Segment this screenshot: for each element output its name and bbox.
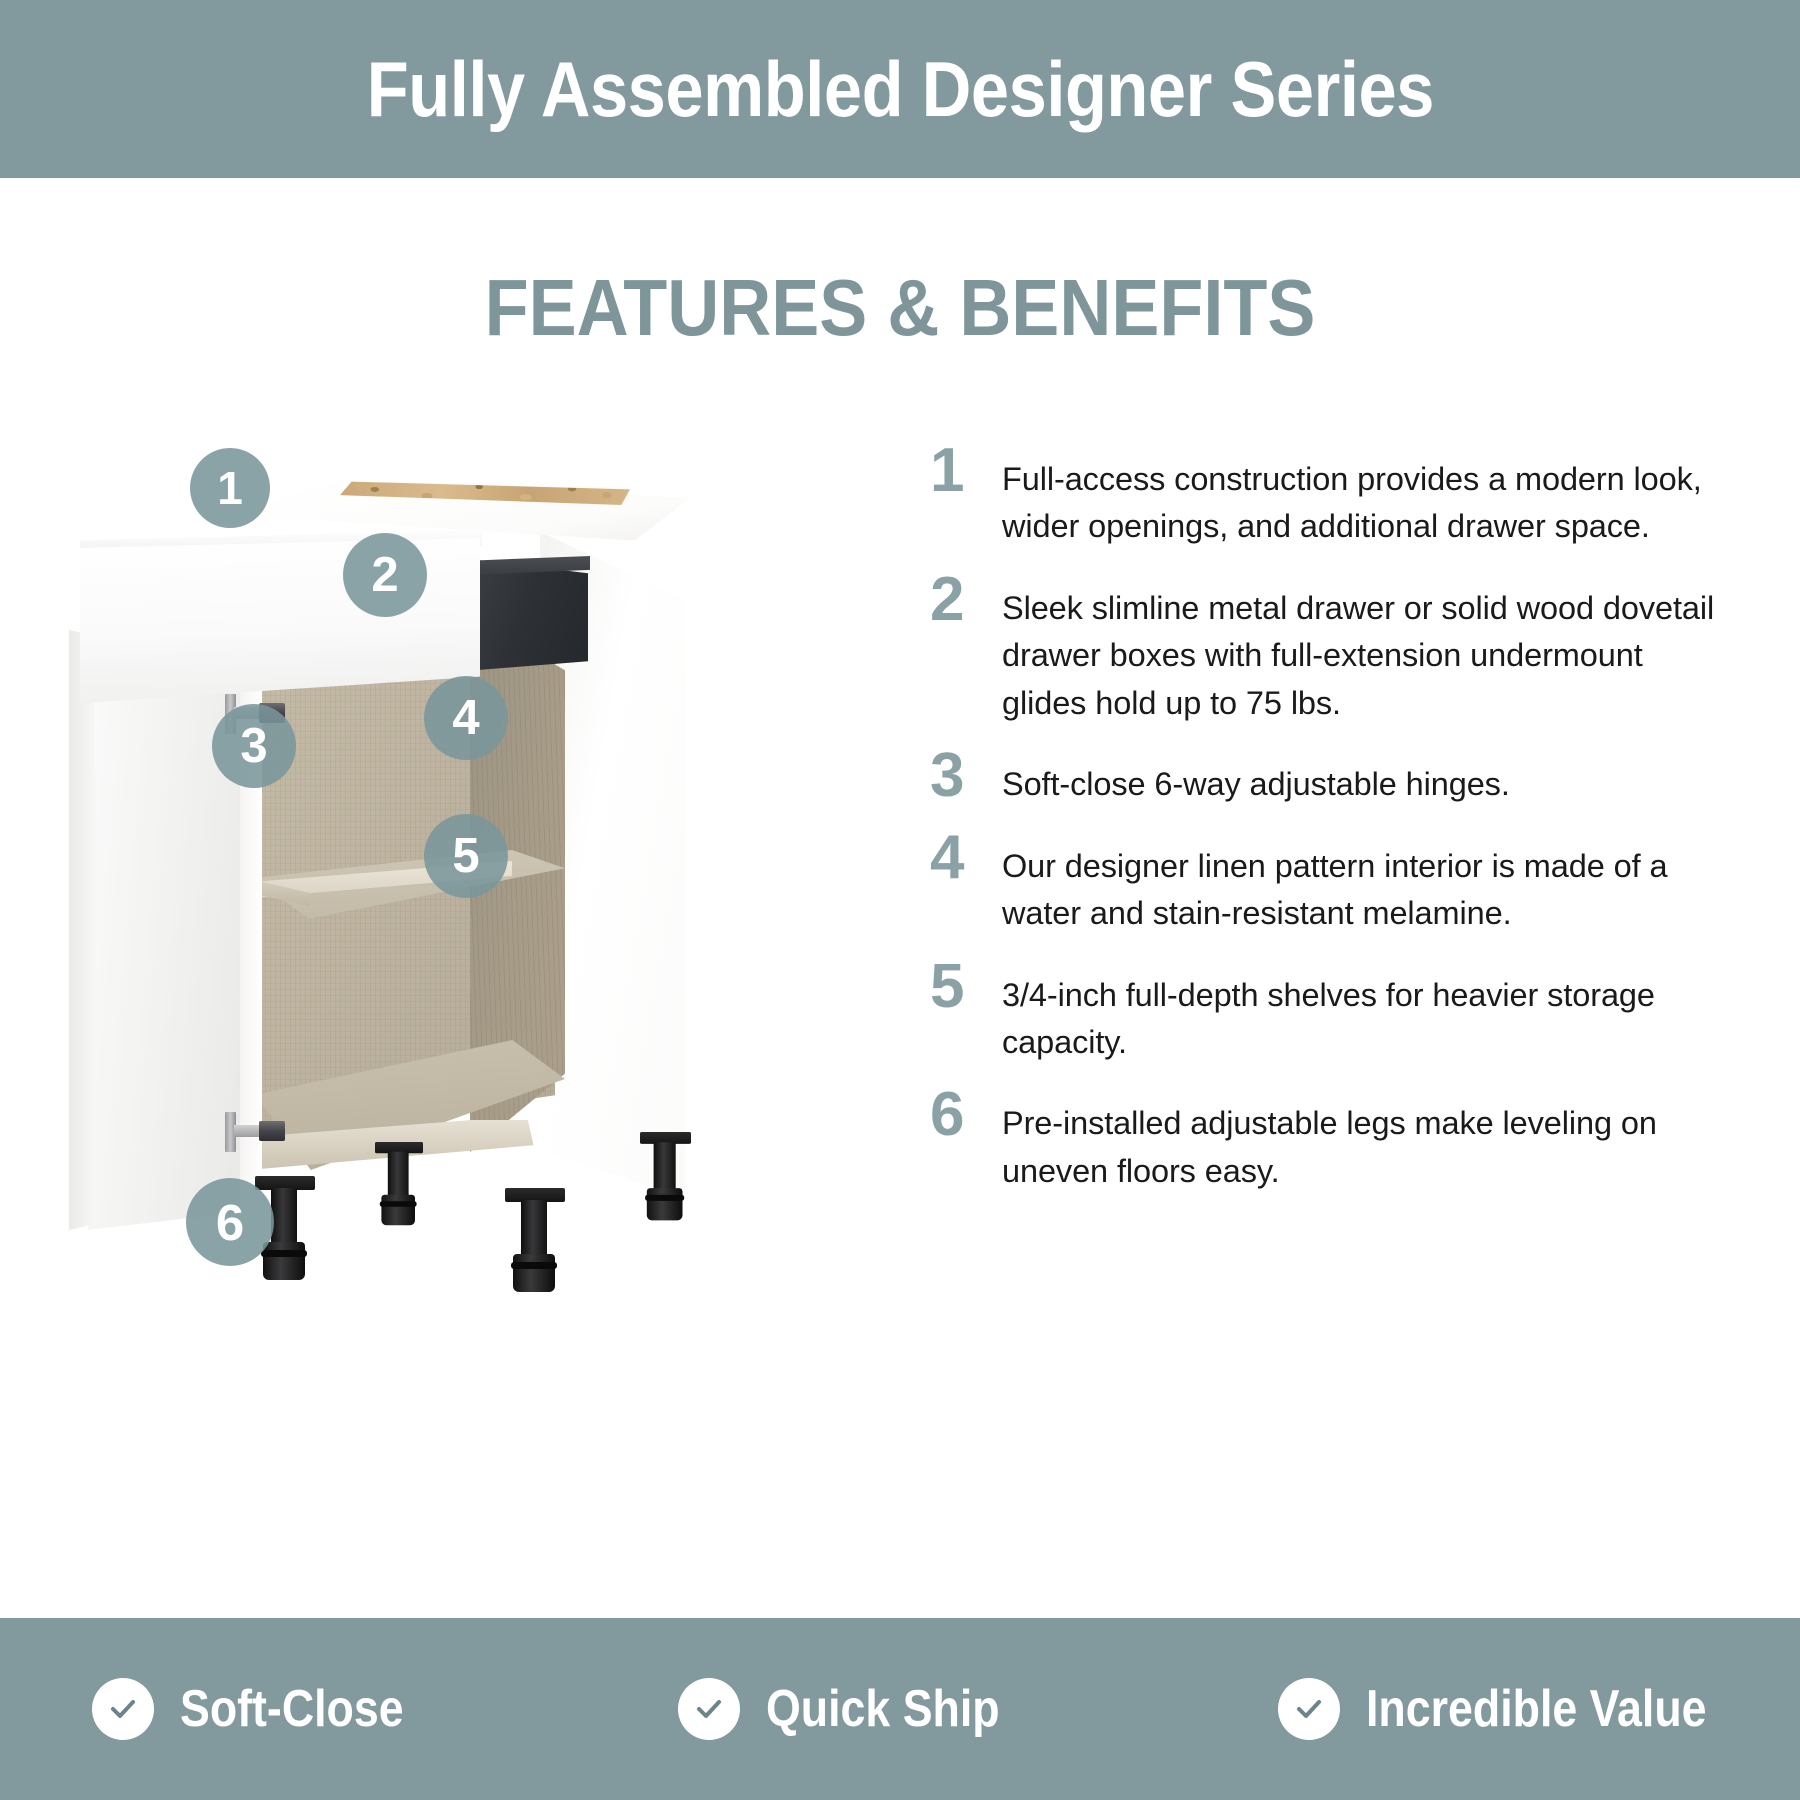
feature-item: 4 Our designer linen pattern interior is… — [930, 827, 1730, 938]
check-circle-icon — [678, 1678, 740, 1740]
check-circle-icon — [1278, 1678, 1340, 1740]
main-content: 123456 1 Full-access construction provid… — [0, 400, 1800, 1590]
feature-number: 1 — [930, 440, 1002, 499]
footer-badge-label: Quick Ship — [766, 1683, 1000, 1735]
cabinet-door-edge — [65, 630, 95, 1230]
feature-item: 6 Pre-installed adjustable legs make lev… — [930, 1084, 1730, 1195]
section-heading: FEATURES & BENEFITS — [90, 268, 1710, 348]
features-list: 1 Full-access construction provides a mo… — [930, 440, 1730, 1213]
footer-badge-incredible-value: Incredible Value — [1200, 1678, 1800, 1740]
footer-badge-soft-close: Soft-Close — [0, 1678, 600, 1740]
slimline-metal-drawer-box — [478, 560, 588, 670]
callout-5: 5 — [424, 814, 508, 898]
callout-3: 3 — [212, 704, 296, 788]
check-circle-icon — [92, 1678, 154, 1740]
callout-4: 4 — [424, 676, 508, 760]
feature-number: 3 — [930, 745, 1002, 804]
footer-badge-quick-ship: Quick Ship — [600, 1678, 1200, 1740]
feature-description: Our designer linen pattern interior is m… — [1002, 827, 1730, 938]
feature-item: 1 Full-access construction provides a mo… — [930, 440, 1730, 551]
callout-1: 1 — [190, 448, 270, 528]
callout-6: 6 — [186, 1178, 274, 1266]
feature-item: 3 Soft-close 6-way adjustable hinges. — [930, 745, 1730, 808]
footer-bar: Soft-Close Quick Ship Incredible Value — [0, 1618, 1800, 1800]
feature-number: 5 — [930, 956, 1002, 1015]
callout-2: 2 — [343, 533, 427, 617]
feature-item: 2 Sleek slimline metal drawer or solid w… — [930, 569, 1730, 727]
feature-description: Pre-installed adjustable legs make level… — [1002, 1084, 1730, 1195]
soft-close-hinge-icon — [225, 1110, 287, 1154]
feature-description: 3/4-inch full-depth shelves for heavier … — [1002, 956, 1730, 1067]
feature-description: Full-access construction provides a mode… — [1002, 440, 1730, 551]
feature-number: 6 — [930, 1084, 1002, 1143]
cabinet-product-illustration — [40, 430, 820, 1430]
feature-description: Sleek slimline metal drawer or solid woo… — [1002, 569, 1730, 727]
header-bar: Fully Assembled Designer Series — [0, 0, 1800, 178]
footer-badge-label: Soft-Close — [180, 1683, 404, 1735]
footer-badge-label: Incredible Value — [1366, 1683, 1707, 1735]
page-title: Fully Assembled Designer Series — [366, 50, 1433, 128]
feature-number: 4 — [930, 827, 1002, 886]
feature-description: Soft-close 6-way adjustable hinges. — [1002, 745, 1730, 808]
feature-item: 5 3/4-inch full-depth shelves for heavie… — [930, 956, 1730, 1067]
feature-number: 2 — [930, 569, 1002, 628]
